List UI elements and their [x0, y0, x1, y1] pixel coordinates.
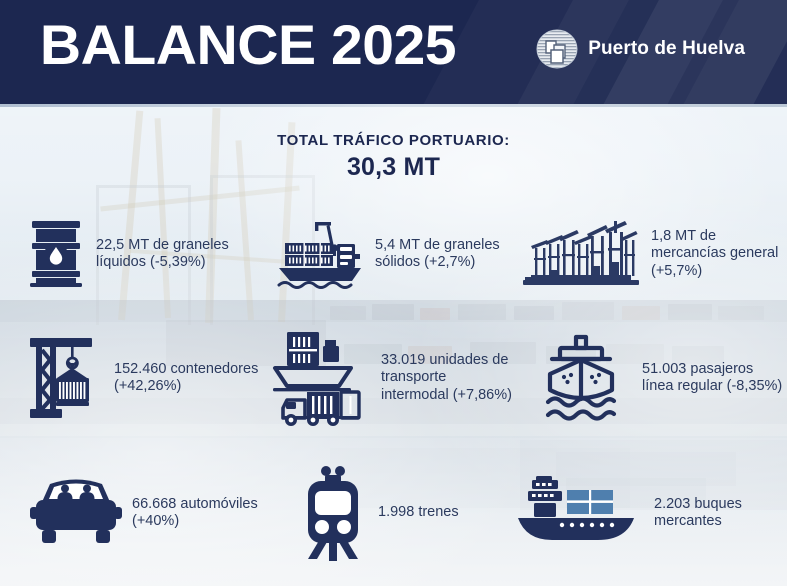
stat-item-transporte-intermodal: 33.019 unidades de transporte intermodal…: [262, 308, 512, 448]
stats-row: 66.668 automóviles (+40%): [0, 448, 787, 578]
stat-item-graneles-liquidos: 22,5 MT de graneles líquidos (-5,39%): [0, 200, 265, 308]
bulk-carrier-ship-icon: [277, 216, 365, 292]
stat-item-automoviles: 66.668 automóviles (+40%): [0, 448, 268, 578]
stat-label: 1.998 trenes: [378, 504, 459, 522]
oil-barrel-icon: [26, 219, 86, 289]
stat-item-trenes: 1.998 trenes: [268, 448, 506, 578]
stat-item-graneles-solidos: 5,4 MT de graneles sólidos (+2,7%): [265, 200, 513, 308]
stat-item-pasajeros: 51.003 pasajeros línea regular (-8,35%): [512, 308, 787, 448]
stat-label: 1,8 MT de mercancías general (+5,7%): [651, 228, 787, 281]
page-title: BALANCE 2025: [40, 14, 456, 76]
puerto-de-huelva-logo-icon: [536, 28, 578, 70]
stat-label: 33.019 unidades de transporte intermodal…: [381, 352, 512, 405]
car-icon: [30, 474, 122, 552]
merchant-ship-icon: [514, 476, 644, 550]
port-cranes-icon: [521, 218, 641, 290]
container-crane-icon: [28, 332, 104, 424]
stat-label: 152.460 contenedores (+42,26%): [114, 361, 262, 396]
stat-label: 2.203 buques mercantes: [654, 496, 787, 531]
stat-label: 22,5 MT de graneles líquidos (-5,39%): [96, 237, 265, 272]
stat-item-buques-mercantes: 2.203 buques mercantes: [506, 448, 787, 578]
stats-row: 22,5 MT de graneles líquidos (-5,39%): [0, 200, 787, 308]
total-traffic-value: 30,3 MT: [0, 153, 787, 182]
passenger-ship-icon: [532, 332, 632, 424]
train-icon: [298, 465, 368, 561]
stat-label: 5,4 MT de graneles sólidos (+2,7%): [375, 237, 513, 272]
total-traffic-block: TOTAL TRÁFICO PORTUARIO: 30,3 MT: [0, 132, 787, 182]
brand-lockup: Puerto de Huelva: [536, 28, 745, 70]
header-divider: [0, 104, 787, 107]
brand-name: Puerto de Huelva: [588, 38, 745, 60]
stat-label: 51.003 pasajeros línea regular (-8,35%): [642, 361, 787, 396]
header-bar: BALANCE 2025: [0, 0, 787, 104]
stats-grid: 22,5 MT de graneles líquidos (-5,39%): [0, 200, 787, 578]
infographic-root: BALANCE 2025: [0, 0, 787, 586]
stat-label: 66.668 automóviles (+40%): [132, 496, 268, 531]
stat-item-contenedores: 152.460 contenedores (+42,26%): [0, 308, 262, 448]
intermodal-transport-icon: [269, 328, 371, 428]
stat-item-mercancias-general: 1,8 MT de mercancías general (+5,7%): [513, 200, 787, 308]
total-traffic-label: TOTAL TRÁFICO PORTUARIO:: [0, 132, 787, 149]
stats-row: 152.460 contenedores (+42,26%): [0, 308, 787, 448]
